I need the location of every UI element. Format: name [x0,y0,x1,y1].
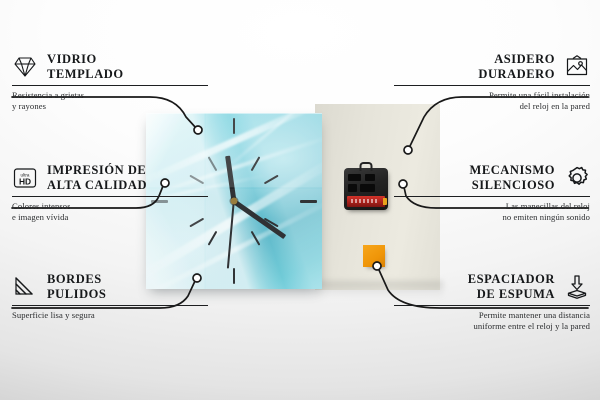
feature-vidrio-templado[interactable]: VIDRIOTEMPLADO Resistencia a grietas y r… [12,52,208,113]
feature-divider [394,85,590,86]
feature-description: Permite una fácil instalación del reloj … [394,90,590,113]
clock-battery [347,196,385,207]
feature-title-line2: TEMPLADO [47,67,124,81]
feature-asidero-duradero[interactable]: ASIDERODURADERO Permite una fácil instal… [394,52,590,113]
battery-label [351,199,378,203]
mechanism-hanger [360,162,373,171]
feature-heading: VIDRIOTEMPLADO [12,52,208,82]
feature-bordes-pulidos[interactable]: BORDESPULIDOS Superficie lisa y segura [12,272,208,321]
feature-heading: BORDESPULIDOS [12,272,208,302]
feature-title-line1: BORDES [47,272,102,286]
feature-title-line2: ALTA CALIDAD [47,178,147,192]
polished-edges-icon [12,274,38,300]
picture-hanger-icon [564,54,590,80]
clock-tick [233,118,235,134]
feature-description: Las manecillas del reloj no emiten ningú… [394,201,590,224]
feature-description: Permite mantener una distancia uniforme … [394,310,590,333]
feature-impresion-alta-calidad[interactable]: ultra HD IMPRESIÓN DEALTA CALIDAD Colore… [12,163,208,224]
feature-divider [394,196,590,197]
feature-title-line1: ASIDERO [494,52,555,66]
foam-spacer-icon [564,274,590,300]
gear-icon [564,165,590,191]
feature-mecanismo-silencioso[interactable]: MECANISMOSILENCIOSO Las manecillas del r… [394,163,590,224]
feature-description: Resistencia a grietas y rayones [12,90,208,113]
feature-description: Colores intensos e imagen vívida [12,201,208,224]
feature-divider [12,85,208,86]
feature-divider [394,305,590,306]
clock-tick [233,268,235,284]
clock-second-hand [227,201,235,269]
feature-heading: ASIDERODURADERO [394,52,590,82]
feature-title-line1: VIDRIO [47,52,97,66]
feature-title-line2: DE ESPUMA [477,287,555,301]
feature-title-line1: ESPACIADOR [468,272,555,286]
clock-tick [300,200,317,203]
feature-title-line2: PULIDOS [47,287,106,301]
feature-divider [12,305,208,306]
clock-center-hub [231,198,238,205]
svg-text:HD: HD [19,176,31,186]
feature-description: Superficie lisa y segura [12,310,208,322]
clock-mechanism [344,168,388,210]
feature-title-line2: SILENCIOSO [472,178,555,192]
infographic-stage: VIDRIOTEMPLADO Resistencia a grietas y r… [0,0,600,400]
feature-heading: ultra HD IMPRESIÓN DEALTA CALIDAD [12,163,208,193]
feature-title-line1: IMPRESIÓN DE [47,163,146,177]
feature-heading: ESPACIADORDE ESPUMA [394,272,590,302]
feature-title-line2: DURADERO [478,67,555,81]
feature-espaciador-de-espuma[interactable]: ESPACIADORDE ESPUMA Permite mantener una… [394,272,590,333]
ultra-hd-icon: ultra HD [12,165,38,191]
feature-heading: MECANISMOSILENCIOSO [394,163,590,193]
foam-spacer-sample [363,245,385,267]
feature-divider [12,196,208,197]
feature-title-line1: MECANISMO [469,163,555,177]
diamond-icon [12,54,38,80]
clock-tick [208,156,218,171]
